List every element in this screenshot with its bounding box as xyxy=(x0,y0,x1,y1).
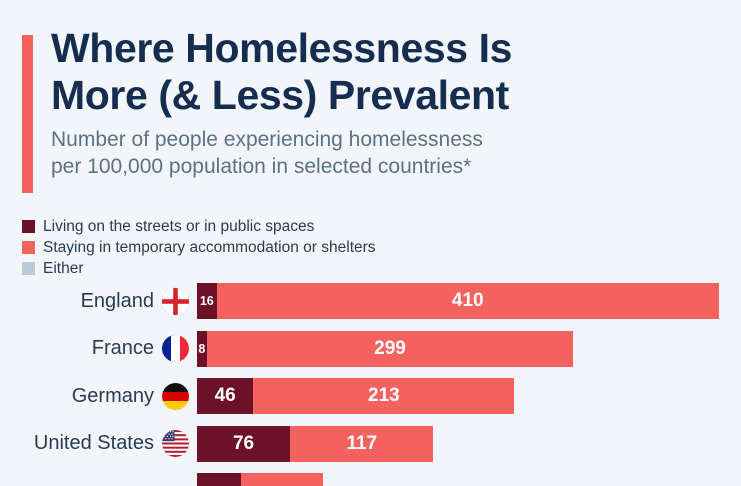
bar-value-label: 16 xyxy=(199,294,215,308)
bar-segment-street: 16 xyxy=(197,283,217,319)
bar-value-label: 117 xyxy=(344,433,379,455)
bar-chart: England16410France8299Germany46213United… xyxy=(0,283,741,486)
bar-track: 8299 xyxy=(197,331,573,367)
country-name: France xyxy=(92,337,154,360)
bar-segment-street: 76 xyxy=(197,426,290,462)
country-name: England xyxy=(81,290,154,313)
legend-item-either: Either xyxy=(22,258,622,279)
country-name: United States xyxy=(34,432,154,455)
legend-label-shelter: Staying in temporary accommodation or sh… xyxy=(43,238,376,257)
bar-value-label: 410 xyxy=(450,290,486,312)
row-label xyxy=(0,473,189,486)
infographic-canvas: Where Homelessness Is More (& Less) Prev… xyxy=(0,0,741,486)
page-subtitle: Number of people experiencing homelessne… xyxy=(51,126,701,180)
bar-segment-shelter: 299 xyxy=(207,331,573,367)
bar-row: England16410 xyxy=(0,283,741,331)
bar-value-label: 76 xyxy=(231,433,256,455)
row-label: France xyxy=(0,331,189,367)
bar-segment-shelter xyxy=(241,473,323,486)
bar-segment-street: 46 xyxy=(197,378,253,414)
bar-row xyxy=(0,473,741,486)
flag-germany-icon xyxy=(162,383,189,410)
accent-bar xyxy=(22,35,33,193)
header: Where Homelessness Is More (& Less) Prev… xyxy=(22,35,722,193)
bar-row: United States76117 xyxy=(0,426,741,474)
row-label: England xyxy=(0,283,189,319)
flag-england-icon xyxy=(162,288,189,315)
bar-segment-street xyxy=(197,473,241,486)
row-label: Germany xyxy=(0,378,189,414)
legend-item-street: Living on the streets or in public space… xyxy=(22,216,622,237)
bar-segment-shelter: 410 xyxy=(217,283,719,319)
country-name: Germany xyxy=(72,385,154,408)
legend-swatch-either-icon xyxy=(22,262,35,275)
bar-row: Germany46213 xyxy=(0,378,741,426)
header-text: Where Homelessness Is More (& Less) Prev… xyxy=(51,25,701,180)
bar-segment-street: 8 xyxy=(197,331,207,367)
legend-swatch-shelter-icon xyxy=(22,241,35,254)
legend-label-either: Either xyxy=(43,259,84,278)
legend-item-shelter: Staying in temporary accommodation or sh… xyxy=(22,237,622,258)
flag-france-icon xyxy=(162,335,189,362)
bar-segment-shelter: 213 xyxy=(253,378,514,414)
bar-value-label: 213 xyxy=(366,385,402,407)
bar-track: 76117 xyxy=(197,426,433,462)
row-label: United States xyxy=(0,426,189,462)
bar-value-label: 299 xyxy=(372,338,408,360)
bar-value-label: 8 xyxy=(197,342,206,356)
bar-value-label: 46 xyxy=(213,385,238,407)
bar-track: 46213 xyxy=(197,378,514,414)
bar-track xyxy=(197,473,323,486)
bar-track: 16410 xyxy=(197,283,719,319)
legend-swatch-street-icon xyxy=(22,220,35,233)
chart-legend: Living on the streets or in public space… xyxy=(22,216,622,279)
bar-segment-shelter: 117 xyxy=(290,426,433,462)
legend-label-street: Living on the streets or in public space… xyxy=(43,217,314,236)
flag-united-states-icon xyxy=(162,430,189,457)
page-title: Where Homelessness Is More (& Less) Prev… xyxy=(51,25,701,119)
bar-row: France8299 xyxy=(0,331,741,379)
